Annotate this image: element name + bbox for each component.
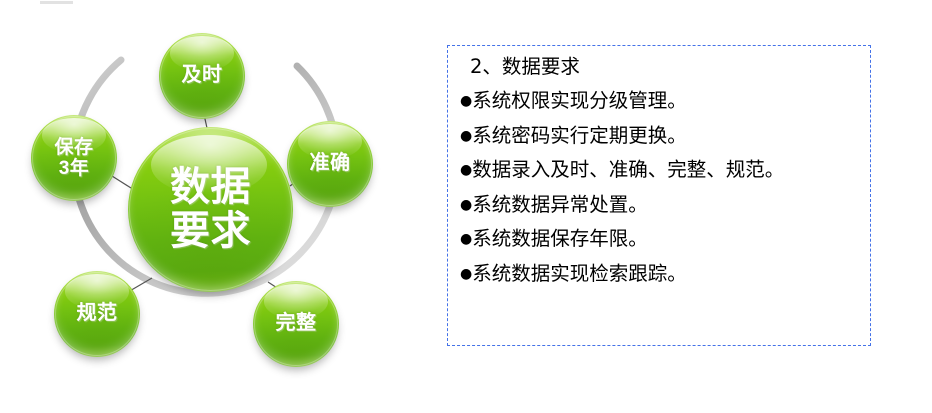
list-item-text: 系统数据异常处置。	[472, 193, 648, 216]
bullet-icon: ●	[460, 128, 472, 144]
data-requirements-diagram: 及时 准确 完整 规范 保存 3年 数据 要求	[0, 0, 420, 413]
node-retention[interactable]: 保存 3年	[31, 115, 117, 201]
node-timely[interactable]: 及时	[159, 33, 245, 119]
node-accurate-label: 准确	[310, 153, 351, 175]
center-node-data-requirements[interactable]: 数据 要求	[128, 127, 293, 292]
list-item-text: 系统密码实行定期更换。	[472, 124, 687, 147]
bullet-icon: ●	[460, 231, 472, 247]
node-accurate[interactable]: 准确	[287, 121, 373, 207]
list-item: ●数据录入及时、准确、完整、规范。	[458, 160, 860, 180]
list-item: ●系统权限实现分级管理。	[458, 91, 860, 111]
list-item-text: 系统数据实现检索跟踪。	[472, 262, 687, 285]
panel-heading: 2、数据要求	[458, 57, 860, 77]
node-complete[interactable]: 完整	[253, 281, 339, 367]
node-retention-label: 保存 3年	[54, 137, 93, 180]
center-node-label-line2: 要求	[170, 209, 251, 253]
list-item: ●系统密码实行定期更换。	[458, 126, 860, 146]
node-timely-label: 及时	[182, 65, 223, 87]
requirements-list: 2、数据要求 ●系统权限实现分级管理。 ●系统密码实行定期更换。 ●数据录入及时…	[448, 46, 870, 284]
node-standard-label: 规范	[77, 303, 118, 325]
list-item-text: 系统权限实现分级管理。	[472, 89, 687, 112]
center-node-label-line1: 数据	[170, 165, 251, 209]
list-item-text: 数据录入及时、准确、完整、规范。	[472, 158, 784, 181]
node-complete-label: 完整	[276, 313, 317, 335]
list-item: ●系统数据实现检索跟踪。	[458, 264, 860, 284]
node-retention-label-line2: 3年	[59, 158, 90, 179]
bullet-icon: ●	[460, 93, 472, 109]
bullet-icon: ●	[460, 266, 472, 282]
node-retention-label-line1: 保存	[54, 137, 93, 158]
list-item-text: 系统数据保存年限。	[472, 227, 648, 250]
list-item: ●系统数据异常处置。	[458, 195, 860, 215]
slide-canvas: 及时 准确 完整 规范 保存 3年 数据 要求 2、数据要求	[0, 0, 932, 413]
node-standard[interactable]: 规范	[54, 271, 140, 357]
bullet-icon: ●	[460, 162, 472, 178]
center-node-label: 数据 要求	[170, 166, 251, 252]
list-item: ●系统数据保存年限。	[458, 229, 860, 249]
bullet-icon: ●	[460, 197, 472, 213]
requirements-text-panel: 2、数据要求 ●系统权限实现分级管理。 ●系统密码实行定期更换。 ●数据录入及时…	[447, 45, 871, 346]
